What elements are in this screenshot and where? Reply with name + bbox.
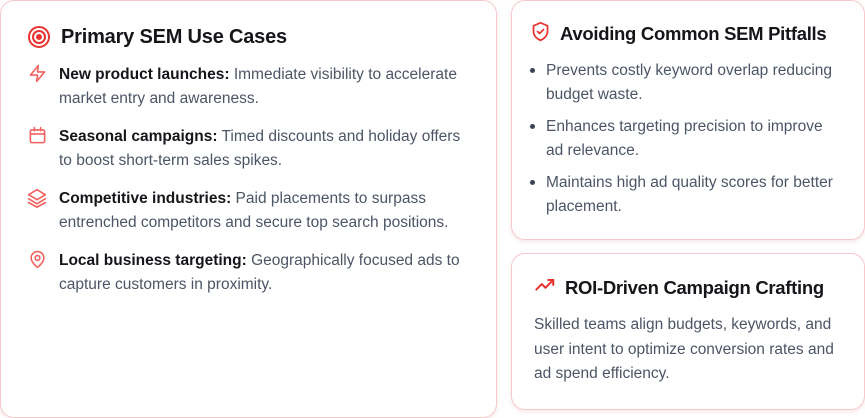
list-item: Competitive industries: Paid placements … (27, 187, 470, 234)
list-item-text: New product launches: Immediate visibili… (59, 63, 470, 110)
primary-use-cases-card: Primary SEM Use Cases New product launch… (0, 0, 497, 418)
trending-up-icon (534, 274, 556, 301)
pitfalls-card-header: Avoiding Common SEM Pitfalls (530, 21, 844, 47)
list-item: Seasonal campaigns: Timed discounts and … (27, 125, 470, 172)
primary-card-title: Primary SEM Use Cases (61, 26, 287, 49)
list-item: Maintains high ad quality scores for bet… (530, 171, 844, 219)
list-item-text: Maintains high ad quality scores for bet… (546, 171, 844, 219)
list-item-text: Enhances targeting precision to improve … (546, 115, 844, 163)
roi-card: ROI-Driven Campaign Crafting Skilled tea… (511, 253, 865, 409)
right-column: Avoiding Common SEM Pitfalls Prevents co… (511, 0, 865, 418)
list-item-text: Local business targeting: Geographically… (59, 249, 470, 296)
list-item-text: Seasonal campaigns: Timed discounts and … (59, 125, 470, 172)
target-icon (27, 25, 51, 49)
list-item: Prevents costly keyword overlap reducing… (530, 59, 844, 107)
pitfalls-bullet-list: Prevents costly keyword overlap reducing… (530, 59, 844, 219)
primary-card-header: Primary SEM Use Cases (27, 25, 470, 49)
pitfalls-card: Avoiding Common SEM Pitfalls Prevents co… (511, 0, 865, 240)
roi-card-header: ROI-Driven Campaign Crafting (534, 274, 842, 301)
bullet-icon (530, 124, 535, 129)
bullet-icon (530, 180, 535, 185)
zap-icon (27, 64, 47, 83)
list-item-label: Seasonal campaigns: (59, 128, 218, 145)
roi-card-title: ROI-Driven Campaign Crafting (565, 277, 824, 299)
list-item: New product launches: Immediate visibili… (27, 63, 470, 110)
list-item-text: Competitive industries: Paid placements … (59, 187, 470, 234)
use-case-list: New product launches: Immediate visibili… (27, 63, 470, 296)
list-item-label: Competitive industries: (59, 190, 231, 207)
pitfalls-card-title: Avoiding Common SEM Pitfalls (560, 23, 826, 45)
list-item: Enhances targeting precision to improve … (530, 115, 844, 163)
calendar-icon (27, 126, 47, 145)
list-item-label: Local business targeting: (59, 252, 247, 269)
left-column: Primary SEM Use Cases New product launch… (0, 0, 497, 418)
list-item: Local business targeting: Geographically… (27, 249, 470, 296)
list-item-text: Prevents costly keyword overlap reducing… (546, 59, 844, 107)
layers-icon (27, 188, 47, 208)
map-pin-icon (27, 250, 47, 269)
infographic-page: Primary SEM Use Cases New product launch… (0, 0, 865, 418)
list-item-label: New product launches: (59, 66, 230, 83)
roi-card-paragraph: Skilled teams align budgets, keywords, a… (534, 313, 842, 386)
bullet-icon (530, 68, 535, 73)
shield-check-icon (530, 21, 551, 47)
